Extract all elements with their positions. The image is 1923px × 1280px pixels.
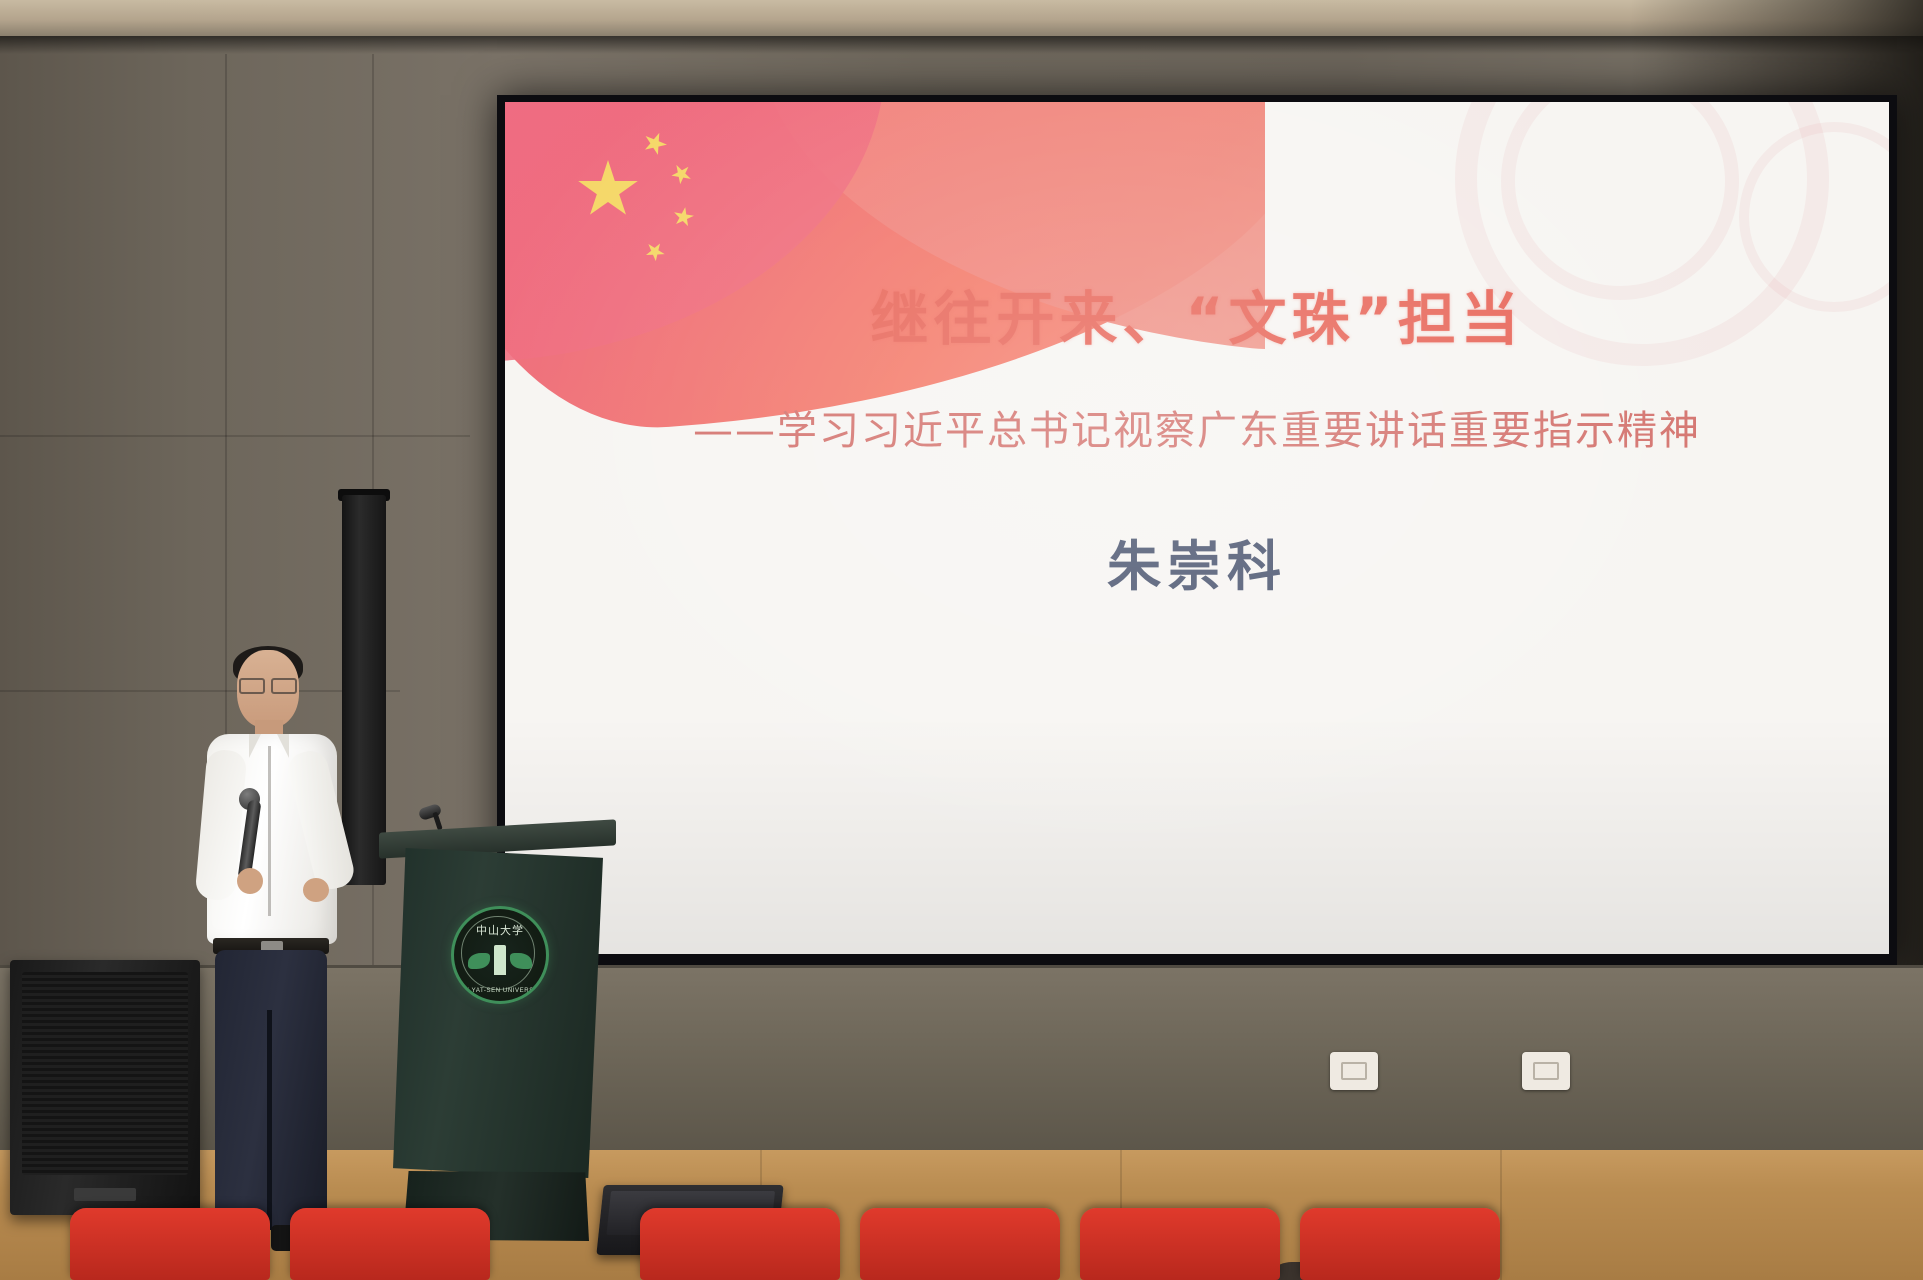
speaker-grille [22,972,188,1175]
floor-speaker-cabinet [10,960,200,1215]
speaker-badge [74,1188,136,1201]
audience-chair [1080,1208,1280,1280]
microphone-stem-icon [432,812,442,831]
shirt-placket [268,746,271,916]
shirt-collar [277,734,289,758]
university-emblem: 中山大学 SUN YAT-SEN UNIVERSITY [451,906,549,1004]
outlet-socket-icon [1341,1062,1367,1080]
audience-chair [290,1208,490,1280]
lectern: 中山大学 SUN YAT-SEN UNIVERSITY [385,826,610,1246]
eyeglasses-icon [239,678,297,690]
lecture-hall-photo: 继往开来、“文珠”担当 ——学习习近平总书记视察广东重要讲话重要指示精神 朱崇科 [0,0,1923,1280]
presenter-hand [303,878,329,902]
wall-outlet [1330,1052,1378,1090]
projection-screen: 继往开来、“文珠”担当 ——学习习近平总书记视察广东重要讲话重要指示精神 朱崇科 [505,102,1889,954]
slide-speaker-name: 朱崇科 [505,522,1889,601]
audience-chair [70,1208,270,1280]
slide-subtitle: ——学习习近平总书记视察广东重要讲话重要指示精神 [505,398,1889,456]
audience-chair [1300,1208,1500,1280]
chinese-flag-graphic [505,102,1265,432]
emblem-english-text: SUN YAT-SEN UNIVERSITY [454,988,546,994]
audience-chair [640,1208,840,1280]
shirt-collar [249,734,261,758]
outlet-socket-icon [1533,1062,1559,1080]
presenter-hand-holding-mic [237,868,263,894]
trouser-leg-gap [267,1010,272,1230]
presenter-figure [205,650,355,1270]
emblem-chinese-text: 中山大学 [454,922,546,938]
slide-title: 继往开来、“文珠”担当 [505,272,1889,356]
wall-seam [0,435,470,437]
wall-outlet [1522,1052,1570,1090]
lectern-body [393,848,603,1178]
emblem-tower-icon [494,945,506,975]
lectern-microphone [413,808,469,830]
floor-plank-line [1500,1150,1502,1280]
audience-chair [860,1208,1060,1280]
